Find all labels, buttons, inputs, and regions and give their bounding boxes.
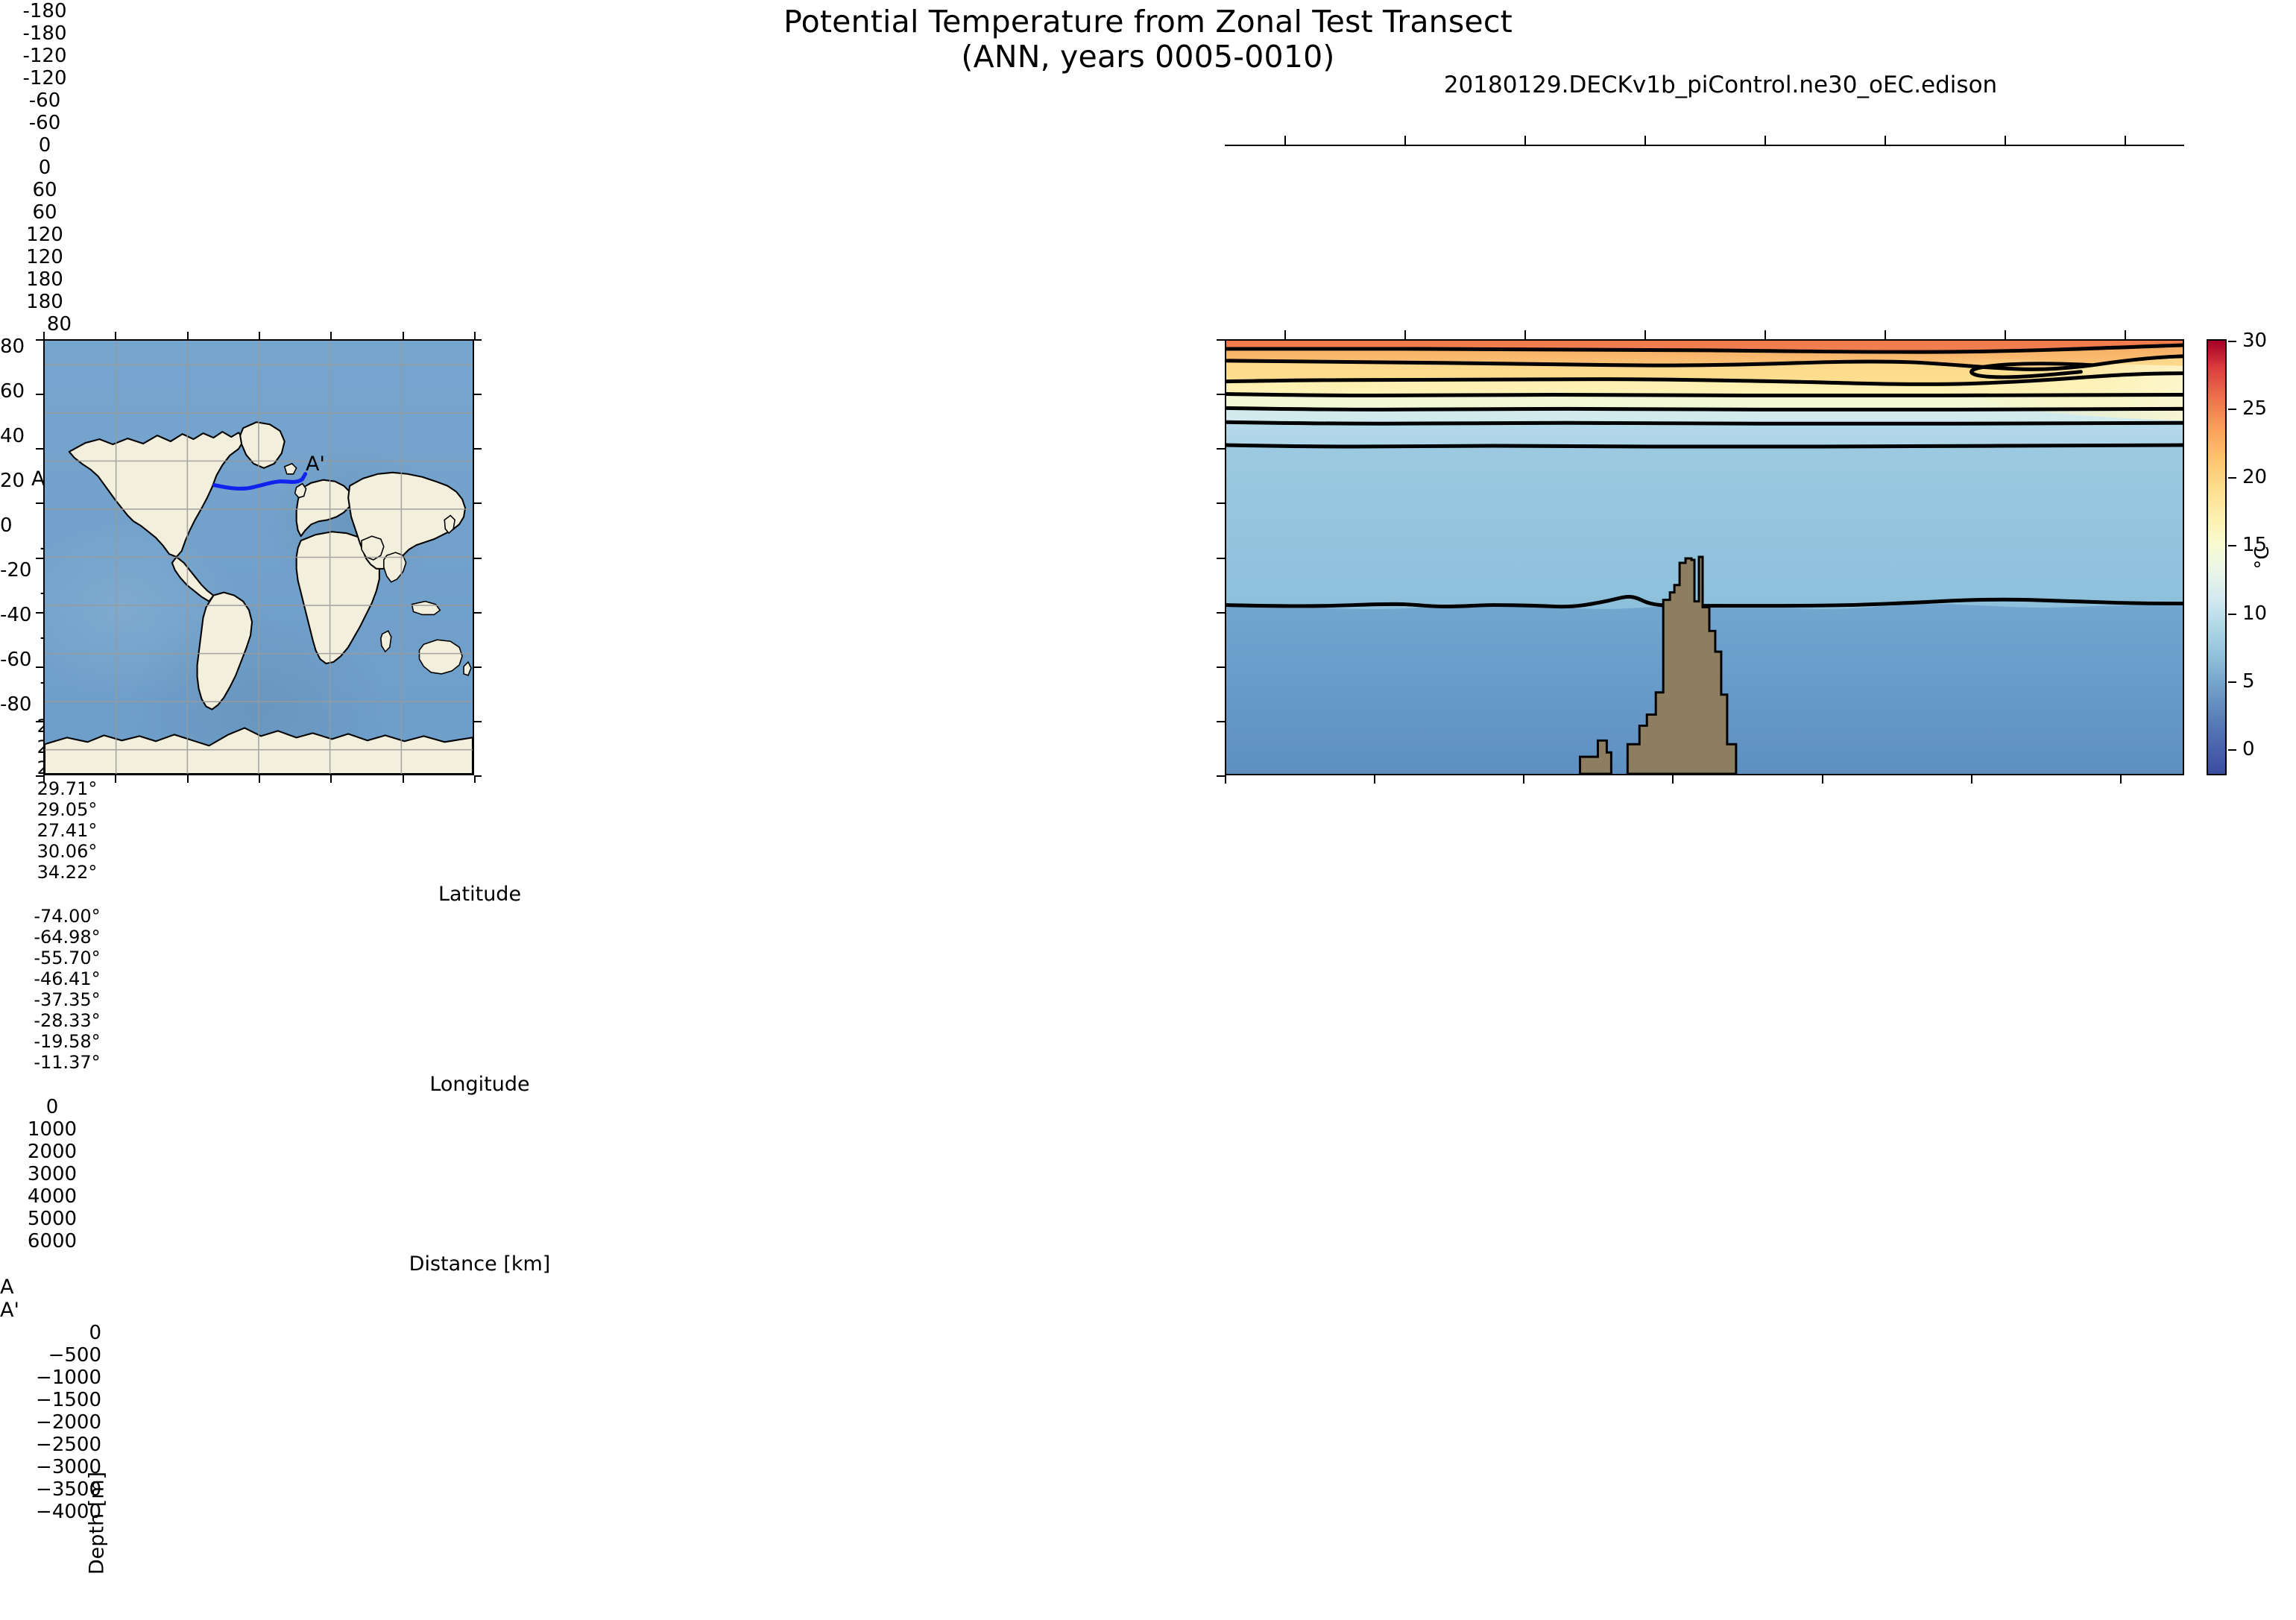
colorbar-tickmark-30 bbox=[2228, 341, 2236, 342]
section-longitude-tick-4: -37.35° bbox=[0, 989, 134, 1010]
map-frame bbox=[43, 339, 474, 775]
map-xtick-bottom-0: 0 bbox=[0, 157, 89, 179]
map-xtick-mark-top-60 bbox=[330, 332, 332, 339]
map-xtick-mark-bottom--60 bbox=[187, 775, 189, 783]
section-xtick-3000: 3000 bbox=[0, 1163, 104, 1185]
section-longitude-tick-1: -64.98° bbox=[0, 927, 134, 948]
section-ytick-mark--3500 bbox=[1217, 721, 1225, 722]
section-longitude-tickmark-3 bbox=[1644, 330, 1646, 339]
map-ytick-mark-left--60 bbox=[36, 721, 43, 722]
map-ytick-mark-right--80 bbox=[474, 775, 482, 777]
world-locator-map[interactable]: A A' bbox=[43, 339, 474, 775]
section-xaxis-label: Distance [km] bbox=[0, 1252, 959, 1276]
map-ytick-mark-right-80 bbox=[474, 339, 482, 341]
map-xtick-mark-bottom-60 bbox=[330, 775, 332, 783]
map-ytick-mark-left--80 bbox=[36, 775, 43, 777]
section-xtick-1000: 1000 bbox=[0, 1118, 104, 1141]
section-latitude-tickmark-7 bbox=[2125, 136, 2126, 145]
section-latitude-tick-6: 30.06° bbox=[0, 841, 134, 862]
section-ytick-mark--4000 bbox=[1217, 775, 1225, 777]
section-longitude-tickmark-5 bbox=[1885, 330, 1886, 339]
colorbar-tickmark-15 bbox=[2228, 545, 2236, 546]
section-longitude-tick-5: -28.33° bbox=[0, 1010, 134, 1031]
map-xtick-mark-bottom-120 bbox=[403, 775, 404, 783]
colorbar-ticklabel-5: 5 bbox=[2242, 670, 2255, 693]
section-latitude-tickmark-2 bbox=[1524, 136, 1526, 145]
map-ytick-mark-left-20 bbox=[36, 502, 43, 504]
section-xtick-mark-0 bbox=[1225, 775, 1226, 784]
map-xtick-mark-top--180 bbox=[43, 332, 45, 339]
map-xtick-top-0: 0 bbox=[0, 134, 89, 157]
section-longitude-tick-0: -74.00° bbox=[0, 906, 134, 927]
section-xtick-6000: 6000 bbox=[0, 1230, 104, 1252]
section-end-marker: A' bbox=[0, 1299, 2296, 1322]
section-ytick--500: −500 bbox=[0, 1344, 101, 1367]
section-longitude-tickmark-6 bbox=[2005, 330, 2006, 339]
map-ytick-mark-left-80 bbox=[36, 339, 43, 341]
map-xtick-mark-top-0 bbox=[259, 332, 260, 339]
section-xtick-mark-5000 bbox=[1971, 775, 1972, 784]
section-xtick-0: 0 bbox=[0, 1096, 104, 1118]
section-ytick-mark--2000 bbox=[1217, 558, 1225, 559]
section-start-marker: A bbox=[0, 1276, 2296, 1299]
section-ytick-mark--2500 bbox=[1217, 612, 1225, 614]
map-ytick-mark-right--20 bbox=[474, 612, 482, 614]
section-ytick-mark--500 bbox=[1217, 394, 1225, 395]
section-ytick-mark--1000 bbox=[1217, 448, 1225, 450]
figure-canvas: Potential Temperature from Zonal Test Tr… bbox=[0, 0, 2296, 857]
map-xtick-mark-top--60 bbox=[187, 332, 189, 339]
section-contourf bbox=[1226, 341, 2183, 774]
section-xtick-mark-3000 bbox=[1672, 775, 1674, 784]
map-transect-start-label: A bbox=[31, 467, 45, 491]
section-longitude-tickmark-0 bbox=[1284, 330, 1286, 339]
map-xtick-bottom-120: 120 bbox=[0, 246, 89, 268]
map-xtick-mark-top-120 bbox=[403, 332, 404, 339]
map-ytick-mark-right-20 bbox=[474, 502, 482, 504]
section-xtick-2000: 2000 bbox=[0, 1141, 104, 1163]
section-frame bbox=[1225, 339, 2184, 775]
map-xtick-top-180: 180 bbox=[0, 268, 89, 291]
colorbar-unit-label: °C bbox=[2251, 546, 2274, 569]
map-xtick-bottom--60: -60 bbox=[0, 112, 89, 134]
colorbar-tickmark-5 bbox=[2228, 681, 2236, 683]
colorbar-ticklabel-25: 25 bbox=[2242, 397, 2267, 420]
section-longitude-tickmark-1 bbox=[1404, 330, 1406, 339]
map-xtick-top-60: 60 bbox=[0, 179, 89, 201]
colorbar-tickmark-25 bbox=[2228, 409, 2236, 410]
section-latitude-spine bbox=[1225, 145, 2184, 146]
map-ytick-mark-left--40 bbox=[36, 666, 43, 668]
colorbar-ticklabel-30: 30 bbox=[2242, 330, 2267, 352]
temperature-cross-section[interactable] bbox=[1225, 339, 2184, 775]
section-longitude-tickmark-2 bbox=[1524, 330, 1526, 339]
map-xtick-top-120: 120 bbox=[0, 224, 89, 246]
colorbar-ticklabel-0: 0 bbox=[2242, 738, 2255, 760]
section-latitude-tickmark-1 bbox=[1404, 136, 1406, 145]
section-ytick-mark-0 bbox=[1217, 339, 1225, 341]
transect-line-on-map[interactable] bbox=[45, 341, 473, 774]
section-latitude-tickmark-6 bbox=[2005, 136, 2006, 145]
map-xtick-bottom-180: 180 bbox=[0, 291, 89, 313]
section-xtick-mark-1000 bbox=[1374, 775, 1375, 784]
map-xtick-mark-top-180 bbox=[474, 332, 476, 339]
colorbar[interactable]: 051015202530 bbox=[2207, 339, 2227, 775]
map-ytick-mark-right-40 bbox=[474, 448, 482, 450]
map-transect-end-label: A' bbox=[306, 453, 325, 476]
section-longitude-axis-label: Longitude bbox=[0, 1073, 959, 1096]
map-xtick-bottom-60: 60 bbox=[0, 201, 89, 224]
section-latitude-tickmark-3 bbox=[1644, 136, 1646, 145]
map-xtick-mark-top--120 bbox=[115, 332, 116, 339]
section-latitude-axis-label: Latitude bbox=[0, 883, 959, 906]
section-xtick-4000: 4000 bbox=[0, 1185, 104, 1208]
map-xtick-mark-bottom-0 bbox=[259, 775, 260, 783]
section-ytick--1500: −1500 bbox=[0, 1389, 101, 1411]
map-ytick-mark-left-0 bbox=[36, 558, 43, 559]
colorbar-ticklabel-10: 10 bbox=[2242, 602, 2267, 625]
section-latitude-tick-5: 27.41° bbox=[0, 820, 134, 841]
section-longitude-tick-2: -55.70° bbox=[0, 948, 134, 968]
section-ytick--1000: −1000 bbox=[0, 1367, 101, 1389]
map-xtick-mark-bottom--120 bbox=[115, 775, 116, 783]
map-ytick-mark-left-40 bbox=[36, 448, 43, 450]
map-ytick-mark-left--20 bbox=[36, 612, 43, 614]
map-ytick-mark-right-60 bbox=[474, 394, 482, 395]
suptitle-line-1: Potential Temperature from Zonal Test Tr… bbox=[0, 4, 2296, 40]
map-ytick-mark-right--40 bbox=[474, 666, 482, 668]
colorbar-tickmark-10 bbox=[2228, 614, 2236, 615]
section-xtick-mark-2000 bbox=[1523, 775, 1524, 784]
map-ytick-mark-right-0 bbox=[474, 558, 482, 559]
section-longitude-tick-6: -19.58° bbox=[0, 1031, 134, 1052]
section-longitude-tickmark-4 bbox=[1764, 330, 1766, 339]
figure-suptitle: Potential Temperature from Zonal Test Tr… bbox=[0, 4, 2296, 75]
section-ytick-mark--3000 bbox=[1217, 666, 1225, 668]
colorbar-ticklabel-20: 20 bbox=[2242, 466, 2267, 488]
section-longitude-tickmark-7 bbox=[2125, 330, 2126, 339]
section-longitude-tick-7: -11.37° bbox=[0, 1052, 134, 1073]
map-xtick-mark-bottom--180 bbox=[43, 775, 45, 783]
map-ytick-left-80: 80 bbox=[0, 313, 72, 335]
map-xtick-top--60: -60 bbox=[0, 89, 89, 112]
section-latitude-tickmark-4 bbox=[1764, 136, 1766, 145]
section-ytick-mark--1500 bbox=[1217, 502, 1225, 504]
section-xtick-mark-6000 bbox=[2120, 775, 2122, 784]
section-xtick-mark-4000 bbox=[1822, 775, 1823, 784]
section-yaxis-label: Depth [m] bbox=[86, 1426, 109, 1620]
section-latitude-tick-3: 29.71° bbox=[0, 778, 134, 799]
section-xtick-5000: 5000 bbox=[0, 1208, 104, 1230]
suptitle-line-2: (ANN, years 0005-0010) bbox=[0, 40, 2296, 75]
section-longitude-tick-3: -46.41° bbox=[0, 968, 134, 989]
section-latitude-tickmark-0 bbox=[1284, 136, 1286, 145]
section-ytick-0: 0 bbox=[0, 1322, 101, 1344]
section-latitude-tickmark-5 bbox=[1885, 136, 1886, 145]
colorbar-tickmark-0 bbox=[2228, 749, 2236, 751]
section-panel-title: 20180129.DECKv1b_piControl.ne30_oEC.edis… bbox=[1225, 72, 2216, 98]
map-ytick-mark-right--60 bbox=[474, 721, 482, 722]
section-latitude-tick-4: 29.05° bbox=[0, 799, 134, 820]
section-latitude-tick-7: 34.22° bbox=[0, 862, 134, 883]
colorbar-tickmark-20 bbox=[2228, 477, 2236, 479]
map-ytick-mark-left-60 bbox=[36, 394, 43, 395]
